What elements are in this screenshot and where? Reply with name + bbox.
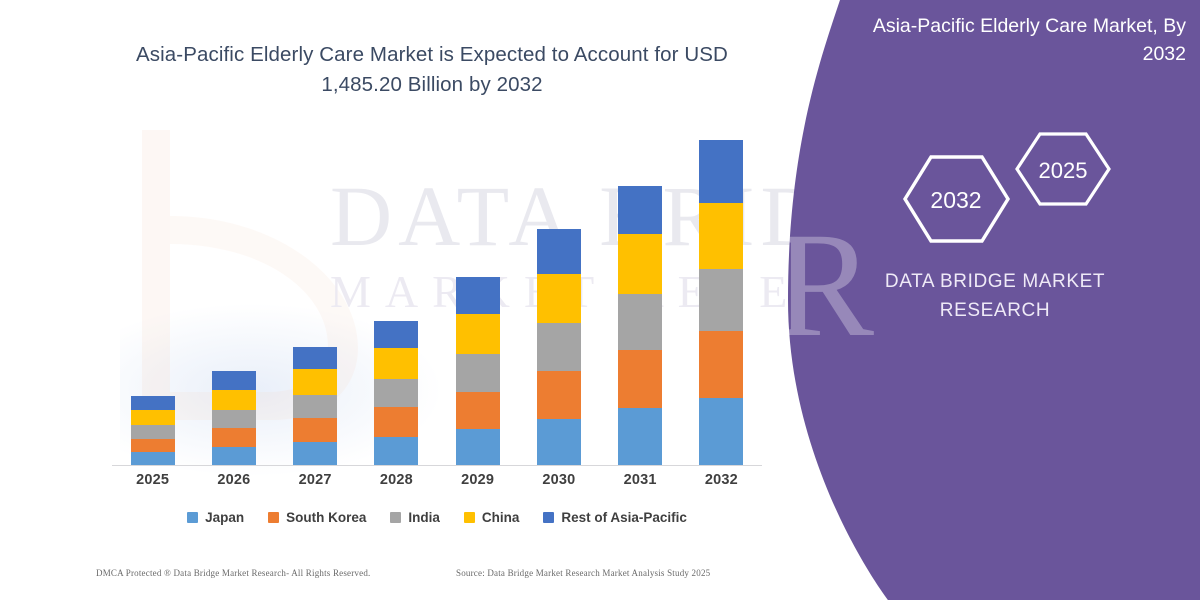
bar-segment-rest-of-asia-pacific[interactable] [618, 186, 662, 233]
bar-segment-china[interactable] [456, 314, 500, 354]
bar-slot [193, 140, 274, 466]
bar-segment-rest-of-asia-pacific[interactable] [456, 277, 500, 314]
bar-segment-rest-of-asia-pacific[interactable] [374, 321, 418, 348]
x-axis-label-2025: 2025 [112, 472, 193, 488]
stacked-bar-2028[interactable] [374, 321, 418, 466]
legend-label: South Korea [286, 510, 366, 525]
bar-segment-india[interactable] [212, 410, 256, 428]
x-axis-label-2029: 2029 [437, 472, 518, 488]
bar-slot [681, 140, 762, 466]
bar-segment-japan[interactable] [618, 408, 662, 466]
bar-segment-rest-of-asia-pacific[interactable] [212, 371, 256, 390]
legend-label: China [482, 510, 520, 525]
bar-segment-china[interactable] [537, 274, 581, 323]
brand-line-1: DATA BRIDGE MARKET [885, 271, 1105, 292]
legend-item-china[interactable]: China [464, 510, 520, 525]
chart-plot-area [112, 140, 762, 466]
stacked-bar-2027[interactable] [293, 347, 337, 466]
legend-swatch-icon [187, 512, 198, 523]
bar-segment-india[interactable] [293, 395, 337, 418]
bar-segment-india[interactable] [456, 354, 500, 393]
x-axis-label-2030: 2030 [518, 472, 599, 488]
legend-item-japan[interactable]: Japan [187, 510, 244, 525]
bar-segment-india[interactable] [374, 379, 418, 407]
bar-segment-south-korea[interactable] [212, 428, 256, 447]
bar-segment-rest-of-asia-pacific[interactable] [293, 347, 337, 369]
bar-segment-south-korea[interactable] [293, 418, 337, 442]
bar-segment-china[interactable] [131, 410, 175, 425]
bar-segment-japan[interactable] [131, 452, 175, 466]
hexagon-2032-label: 2032 [930, 187, 981, 213]
brand-panel: R Asia-Pacific Elderly Care Market, By 2… [780, 0, 1200, 600]
legend-item-south-korea[interactable]: South Korea [268, 510, 366, 525]
bar-segment-japan[interactable] [537, 419, 581, 466]
brand-line-2: RESEARCH [940, 300, 1050, 321]
legend-label: Japan [205, 510, 244, 525]
bar-segment-rest-of-asia-pacific[interactable] [537, 229, 581, 273]
x-axis-label-2027: 2027 [275, 472, 356, 488]
x-axis-line [112, 465, 762, 466]
x-axis-label-2032: 2032 [681, 472, 762, 488]
legend-label: India [408, 510, 440, 525]
bar-slot [356, 140, 437, 466]
stacked-bar-2032[interactable] [699, 140, 743, 466]
footer-copyright: DMCA Protected ® Data Bridge Market Rese… [96, 568, 370, 578]
bar-slot [600, 140, 681, 466]
bar-segment-japan[interactable] [374, 437, 418, 466]
stacked-bar-2030[interactable] [537, 229, 581, 466]
infographic-canvas: DATA BRIDGE MARKET RESEARCH Asia-Pacific… [0, 0, 1200, 600]
bar-segment-china[interactable] [212, 390, 256, 410]
bar-group [112, 140, 762, 466]
bar-segment-japan[interactable] [293, 442, 337, 466]
bar-segment-south-korea[interactable] [374, 407, 418, 436]
x-axis-label-2026: 2026 [193, 472, 274, 488]
bar-slot [112, 140, 193, 466]
chart-legend: JapanSouth KoreaIndiaChinaRest of Asia-P… [112, 510, 762, 525]
bar-segment-rest-of-asia-pacific[interactable] [699, 140, 743, 203]
footer-source: Source: Data Bridge Market Research Mark… [456, 568, 710, 578]
bar-segment-south-korea[interactable] [699, 331, 743, 397]
bar-segment-south-korea[interactable] [618, 350, 662, 408]
bar-segment-rest-of-asia-pacific[interactable] [131, 396, 175, 411]
bar-segment-japan[interactable] [456, 429, 500, 466]
stacked-bar-2029[interactable] [456, 277, 500, 466]
bar-segment-india[interactable] [537, 323, 581, 371]
stacked-bar-2025[interactable] [131, 396, 175, 466]
legend-swatch-icon [464, 512, 475, 523]
bar-segment-japan[interactable] [699, 398, 743, 466]
bar-segment-south-korea[interactable] [537, 371, 581, 418]
bar-segment-india[interactable] [618, 294, 662, 351]
chart-title: Asia-Pacific Elderly Care Market is Expe… [112, 40, 752, 99]
bar-segment-china[interactable] [618, 234, 662, 294]
footer: DMCA Protected ® Data Bridge Market Rese… [0, 568, 800, 588]
x-axis-label-2028: 2028 [356, 472, 437, 488]
brand-name: DATA BRIDGE MARKET RESEARCH [850, 268, 1140, 325]
bar-segment-japan[interactable] [212, 447, 256, 466]
legend-item-rest-of-asia-pacific[interactable]: Rest of Asia-Pacific [543, 510, 687, 525]
x-axis-labels: 20252026202720282029203020312032 [112, 472, 762, 488]
hexagon-2025-label: 2025 [1039, 158, 1088, 183]
bar-slot [275, 140, 356, 466]
bar-slot [518, 140, 599, 466]
legend-swatch-icon [390, 512, 401, 523]
legend-label: Rest of Asia-Pacific [561, 510, 687, 525]
stacked-bar-2026[interactable] [212, 371, 256, 466]
x-axis-label-2031: 2031 [600, 472, 681, 488]
bar-segment-china[interactable] [293, 369, 337, 394]
bar-segment-india[interactable] [131, 425, 175, 439]
hexagon-group: 2025 2032 [890, 128, 1120, 243]
bar-segment-south-korea[interactable] [131, 439, 175, 453]
bar-segment-china[interactable] [374, 348, 418, 378]
bar-slot [437, 140, 518, 466]
bar-segment-india[interactable] [699, 269, 743, 331]
bar-segment-south-korea[interactable] [456, 392, 500, 429]
stacked-bar-2031[interactable] [618, 186, 662, 466]
bar-segment-china[interactable] [699, 203, 743, 269]
legend-swatch-icon [543, 512, 554, 523]
legend-item-india[interactable]: India [390, 510, 440, 525]
panel-title: Asia-Pacific Elderly Care Market, By 203… [838, 12, 1186, 69]
legend-swatch-icon [268, 512, 279, 523]
